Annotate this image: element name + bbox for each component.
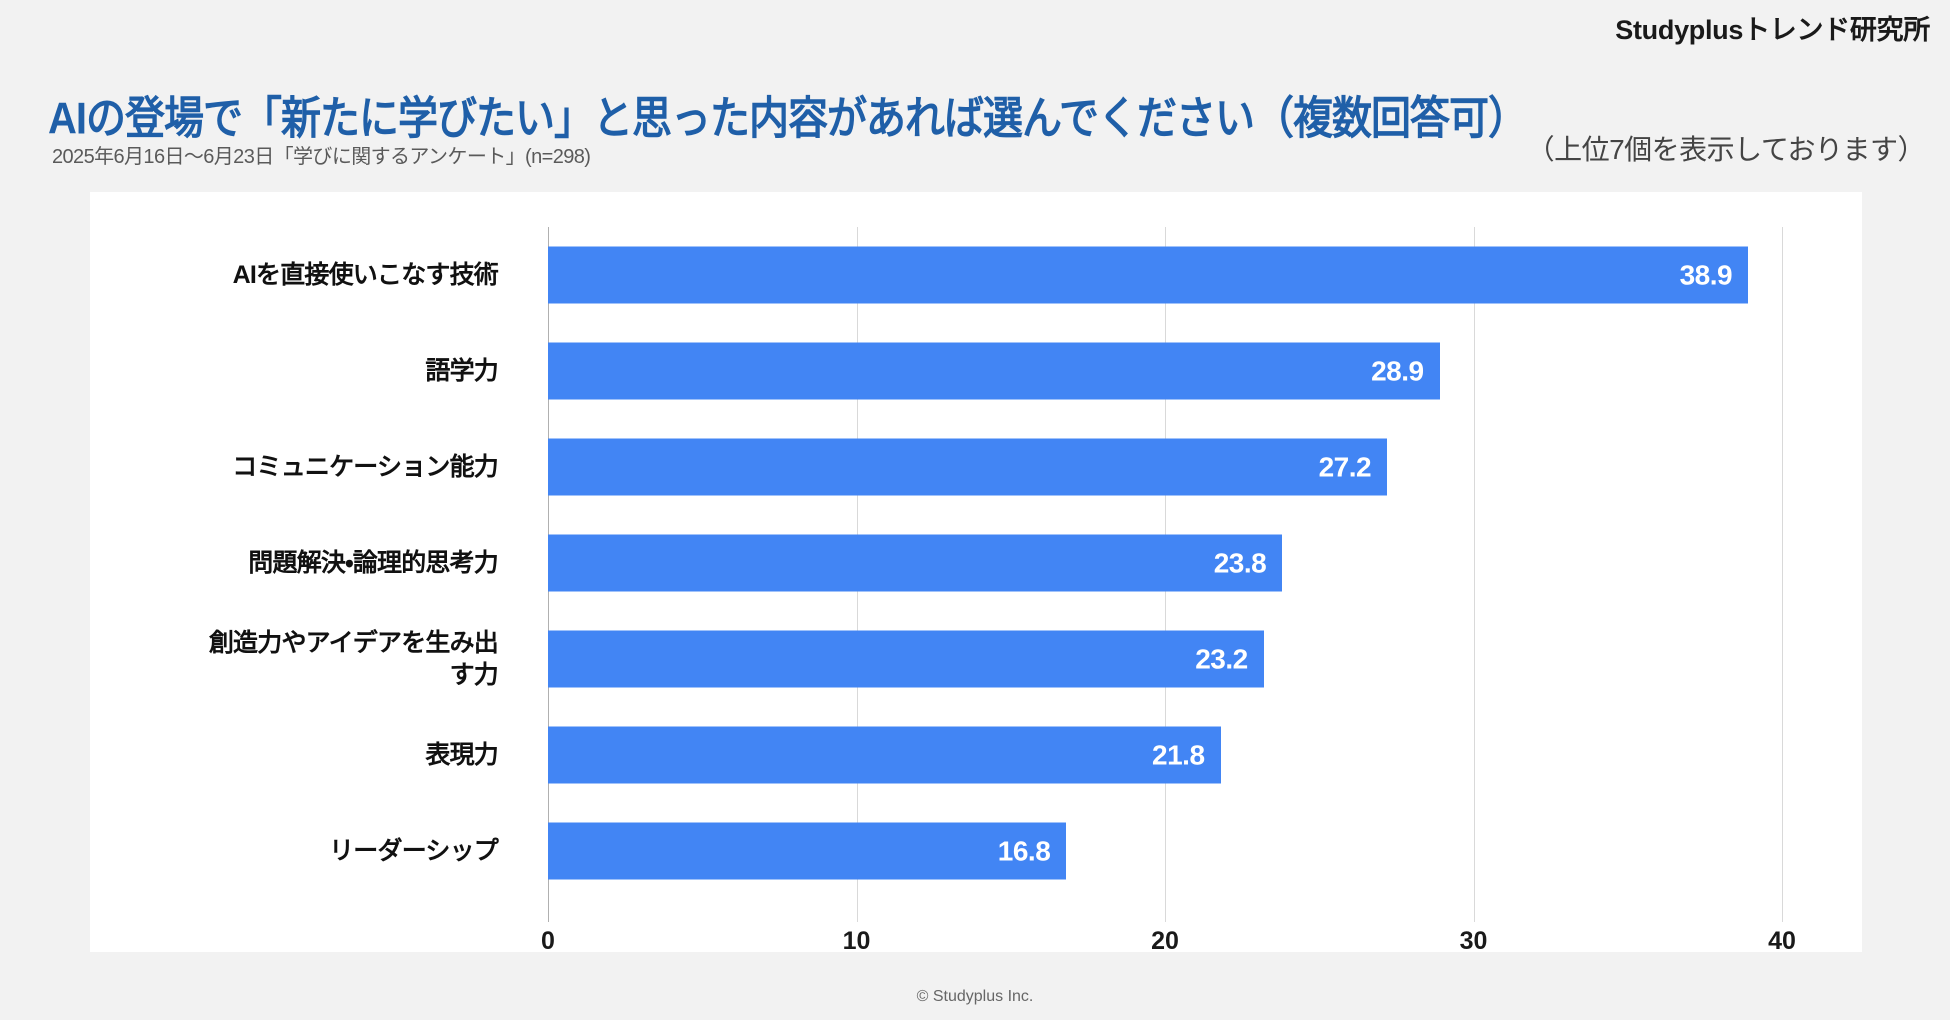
category-label: 創造力やアイデアを生み出す力 [78, 627, 498, 691]
copyright-footer: © Studyplus Inc. [0, 988, 1950, 1006]
bar[interactable]: 23.8 [548, 535, 1282, 592]
bar-value-label: 16.8 [998, 835, 1051, 867]
chart-card: 010203040AIを直接使いこなす技術38.9語学力28.9コミュニケーショ… [90, 192, 1862, 952]
chart-row: AIを直接使いこなす技術38.9 [90, 227, 1862, 323]
category-label: コミュニケーション能力 [78, 451, 498, 483]
bar-chart-plot: 010203040AIを直接使いこなす技術38.9語学力28.9コミュニケーショ… [90, 192, 1862, 952]
category-label: 語学力 [78, 355, 498, 387]
chart-row: コミュニケーション能力27.2 [90, 419, 1862, 515]
bar[interactable]: 21.8 [548, 727, 1221, 784]
bar-value-label: 28.9 [1371, 355, 1424, 387]
x-tick-label: 30 [1460, 927, 1488, 956]
chart-row: リーダーシップ16.8 [90, 803, 1862, 899]
bar-value-label: 23.8 [1214, 547, 1267, 579]
bar[interactable]: 27.2 [548, 439, 1387, 496]
chart-row: 問題解決・論理的思考力23.8 [90, 515, 1862, 611]
bar-value-label: 23.2 [1195, 643, 1248, 675]
chart-row: 創造力やアイデアを生み出す力23.2 [90, 611, 1862, 707]
category-label: 表現力 [78, 739, 498, 771]
x-tick-label: 0 [541, 927, 555, 956]
bar[interactable]: 28.9 [548, 343, 1440, 400]
bar-value-label: 21.8 [1152, 739, 1205, 771]
chart-row: 表現力21.8 [90, 707, 1862, 803]
survey-subtitle: 2025年6月16日〜6月23日「学びに関するアンケート」(n=298) [52, 140, 590, 169]
x-tick-label: 40 [1768, 927, 1796, 956]
x-tick-label: 20 [1151, 927, 1179, 956]
bar-value-label: 38.9 [1680, 259, 1733, 291]
top-items-note: （上位7個を表示しております） [1527, 128, 1925, 168]
bar[interactable]: 23.2 [548, 631, 1264, 688]
category-label: 問題解決・論理的思考力 [78, 547, 498, 579]
page-title: AIの登場で「新たに学びたい」と思った内容があれば選んでください（複数回答可） [48, 82, 1527, 147]
category-label: AIを直接使いこなす技術 [78, 259, 498, 291]
brand-label: Studyplusトレンド研究所 [1615, 8, 1930, 47]
bar[interactable]: 38.9 [548, 247, 1748, 304]
bar[interactable]: 16.8 [548, 823, 1066, 880]
x-tick-label: 10 [843, 927, 871, 956]
chart-row: 語学力28.9 [90, 323, 1862, 419]
bar-value-label: 27.2 [1319, 451, 1372, 483]
category-label: リーダーシップ [78, 835, 498, 867]
